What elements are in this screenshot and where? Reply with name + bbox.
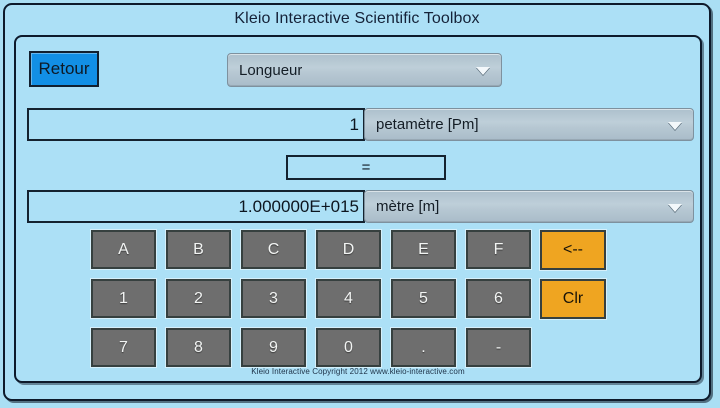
key-b-label: B (193, 242, 204, 258)
key-6-label: 6 (494, 291, 503, 307)
category-dropdown[interactable]: Longueur (227, 53, 502, 87)
back-button[interactable]: Retour (29, 51, 99, 87)
key-1-label: 1 (119, 291, 128, 307)
key-1[interactable]: 1 (91, 279, 156, 318)
input-value-field[interactable]: 1 (27, 108, 365, 141)
chevron-down-icon (668, 204, 682, 212)
key-a[interactable]: A (91, 230, 156, 269)
key-backspace-label: <-- (563, 242, 583, 258)
key-f[interactable]: F (466, 230, 531, 269)
key-decimal-label: . (421, 340, 425, 356)
app-window: Kleio Interactive Scientific Toolbox Ret… (3, 3, 711, 401)
key-5-label: 5 (419, 291, 428, 307)
key-backspace[interactable]: <-- (540, 230, 606, 270)
key-8-label: 8 (194, 340, 203, 356)
key-a-label: A (118, 242, 129, 258)
key-6[interactable]: 6 (466, 279, 531, 318)
key-c-label: C (268, 242, 280, 258)
key-0-label: 0 (344, 340, 353, 356)
output-unit-dropdown[interactable]: mètre [m] (364, 190, 694, 223)
output-unit-label: mètre [m] (365, 198, 439, 215)
key-4-label: 4 (344, 291, 353, 307)
key-d[interactable]: D (316, 230, 381, 269)
input-value-text: 1 (350, 115, 363, 135)
input-unit-label: petamètre [Pm] (365, 116, 479, 133)
key-minus[interactable]: - (466, 328, 531, 367)
page-title: Kleio Interactive Scientific Toolbox (234, 10, 479, 28)
equals-indicator: = (286, 155, 446, 180)
key-2[interactable]: 2 (166, 279, 231, 318)
key-7-label: 7 (119, 340, 128, 356)
category-dropdown-label: Longueur (228, 62, 302, 79)
toolbar: Retour Longueur (16, 37, 700, 93)
keypad-row: ABCDEF<-- (16, 230, 700, 269)
keypad-row: 7890.- (16, 328, 700, 367)
footer-copyright: Kleio Interactive Copyright 2012 www.kle… (251, 367, 464, 376)
key-c[interactable]: C (241, 230, 306, 269)
input-unit-dropdown[interactable]: petamètre [Pm] (364, 108, 694, 141)
key-0[interactable]: 0 (316, 328, 381, 367)
key-b[interactable]: B (166, 230, 231, 269)
output-value-text: 1.000000E+015 (238, 197, 363, 217)
keypad-row: 123456Clr (16, 279, 700, 318)
key-3-label: 3 (269, 291, 278, 307)
footer: Kleio Interactive Copyright 2012 www.kle… (16, 363, 700, 379)
key-9[interactable]: 9 (241, 328, 306, 367)
chevron-down-icon (668, 122, 682, 130)
key-e-label: E (418, 242, 429, 258)
key-8[interactable]: 8 (166, 328, 231, 367)
output-value-field[interactable]: 1.000000E+015 (27, 190, 365, 223)
back-button-label: Retour (38, 59, 89, 79)
key-4[interactable]: 4 (316, 279, 381, 318)
title-bar: Kleio Interactive Scientific Toolbox (5, 5, 709, 33)
chevron-down-icon (476, 67, 490, 75)
key-clear-label: Clr (563, 291, 583, 307)
key-decimal[interactable]: . (391, 328, 456, 367)
key-e[interactable]: E (391, 230, 456, 269)
key-f-label: F (494, 242, 504, 258)
keypad: ABCDEF<-- 123456Clr 7890.- (16, 230, 700, 370)
key-2-label: 2 (194, 291, 203, 307)
content-panel: Retour Longueur 1 petamètre [Pm] = 1.000… (14, 35, 702, 383)
key-7[interactable]: 7 (91, 328, 156, 367)
key-d-label: D (343, 242, 355, 258)
key-clear[interactable]: Clr (540, 279, 606, 319)
equals-sign: = (362, 160, 371, 175)
key-9-label: 9 (269, 340, 278, 356)
key-minus-label: - (496, 340, 501, 356)
key-5[interactable]: 5 (391, 279, 456, 318)
key-3[interactable]: 3 (241, 279, 306, 318)
